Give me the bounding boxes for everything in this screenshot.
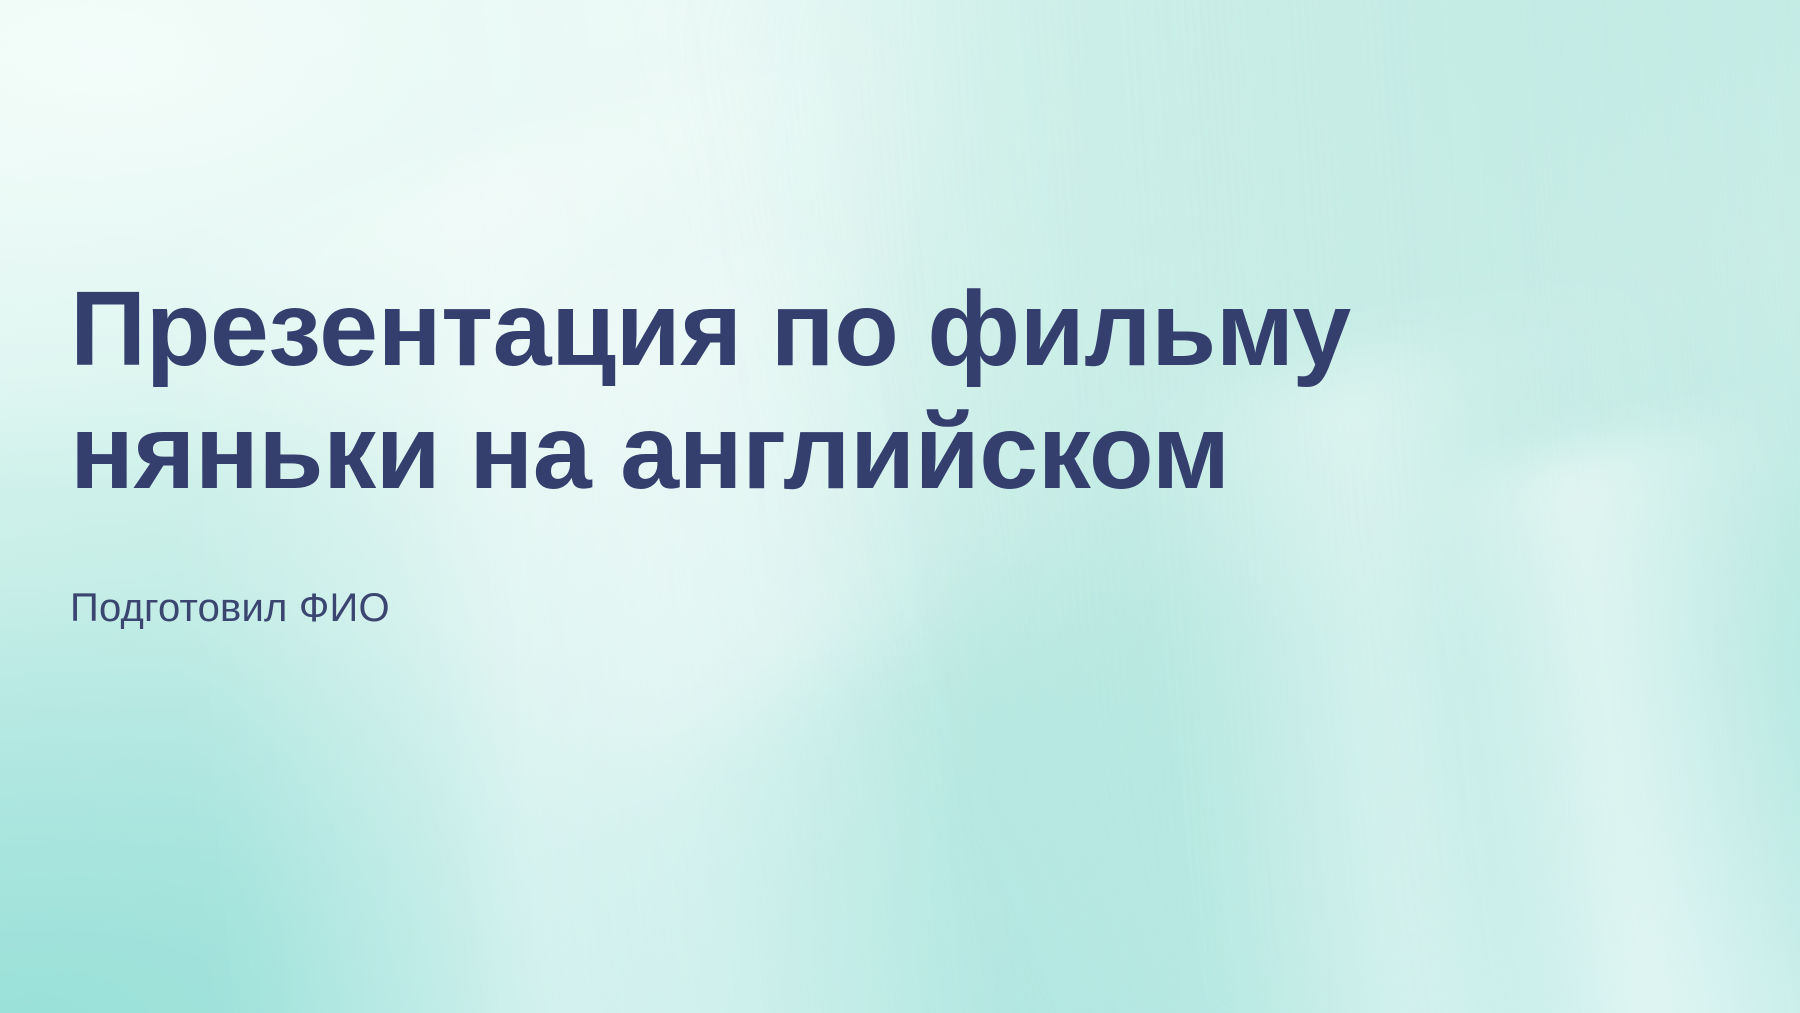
slide-title: Презентация по фильму няньки на английск… [70, 268, 1520, 514]
slide-content: Презентация по фильму няньки на английск… [70, 268, 1520, 632]
slide-subtitle-author: Подготовил ФИО [70, 584, 1520, 632]
title-slide: Презентация по фильму няньки на английск… [0, 0, 1800, 1013]
